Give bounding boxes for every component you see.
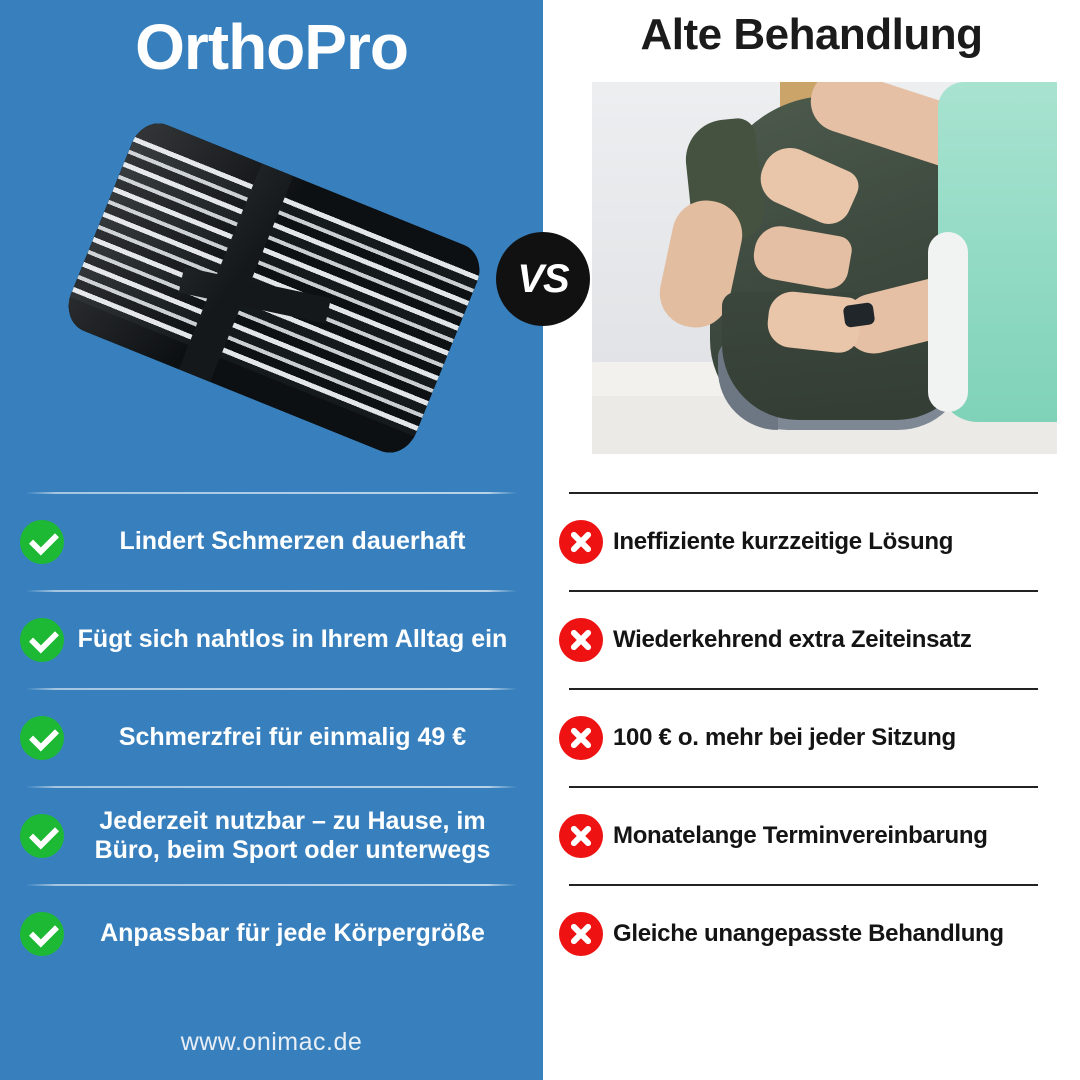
list-item: Anpassbar für jede Körpergröße — [0, 886, 543, 982]
drawback-label: Ineffiziente kurzzeitige Lösung — [613, 528, 953, 556]
list-item: Fügt sich nahtlos in Ihrem Alltag ein — [0, 592, 543, 688]
list-item: Wiederkehrend extra Zeiteinsatz — [543, 592, 1080, 688]
list-item: Ineffiziente kurzzeitige Lösung — [543, 494, 1080, 590]
drawback-label: Gleiche unangepasste Behandlung — [613, 920, 1004, 948]
left-panel-title: OrthoPro — [0, 14, 543, 81]
benefits-list: Lindert Schmerzen dauerhaft Fügt sich na… — [0, 492, 543, 982]
back-brace-graphic — [60, 115, 480, 460]
benefit-label: Lindert Schmerzen dauerhaft — [64, 527, 521, 557]
check-icon — [20, 716, 64, 760]
photo-therapist-sleeve-edge — [928, 232, 968, 412]
check-icon — [20, 618, 64, 662]
check-icon — [20, 814, 64, 858]
benefit-label: Fügt sich nahtlos in Ihrem Alltag ein — [64, 625, 521, 655]
vs-badge: VS — [496, 232, 590, 326]
x-icon — [559, 912, 603, 956]
list-item: Jederzeit nutzbar – zu Hause, im Büro, b… — [0, 788, 543, 884]
drawback-label: 100 € o. mehr bei jeder Sitzung — [613, 724, 956, 752]
list-item: Lindert Schmerzen dauerhaft — [0, 494, 543, 590]
benefit-label: Jederzeit nutzbar – zu Hause, im Büro, b… — [64, 807, 521, 866]
drawback-label: Wiederkehrend extra Zeiteinsatz — [613, 626, 972, 654]
drawback-label: Monatelange Terminvereinbarung — [613, 822, 988, 850]
footer-url[interactable]: www.onimac.de — [0, 1028, 543, 1057]
comparison-infographic: OrthoPro Lindert Schmerzen dauerhaft Füg… — [0, 0, 1080, 1080]
treatment-photo — [592, 82, 1057, 454]
x-icon — [559, 520, 603, 564]
list-item: Schmerzfrei für einmalig 49 € — [0, 690, 543, 786]
list-item: Monatelange Terminvereinbarung — [543, 788, 1080, 884]
drawbacks-list: Ineffiziente kurzzeitige Lösung Wiederke… — [543, 492, 1080, 982]
x-icon — [559, 814, 603, 858]
check-icon — [20, 520, 64, 564]
photo-therapist-watch — [843, 302, 876, 328]
list-item: Gleiche unangepasste Behandlung — [543, 886, 1080, 982]
product-image — [60, 105, 480, 475]
x-icon — [559, 716, 603, 760]
benefit-label: Schmerzfrei für einmalig 49 € — [64, 723, 521, 753]
x-icon — [559, 618, 603, 662]
list-item: 100 € o. mehr bei jeder Sitzung — [543, 690, 1080, 786]
check-icon — [20, 912, 64, 956]
benefit-label: Anpassbar für jede Körpergröße — [64, 919, 521, 949]
right-panel-title: Alte Behandlung — [543, 12, 1080, 58]
